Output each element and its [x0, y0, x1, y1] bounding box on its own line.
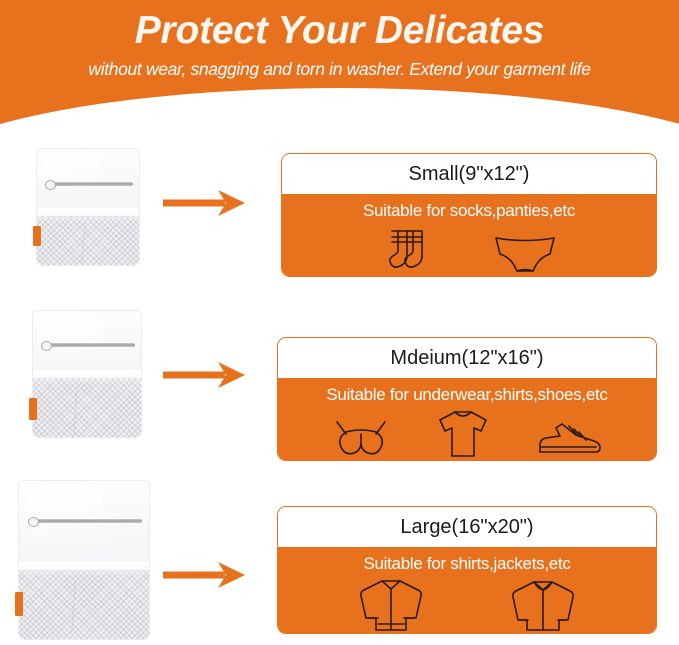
bag-zipper-pull: [45, 180, 56, 190]
bag-sheen: [37, 314, 102, 359]
bag-body: [36, 148, 140, 266]
laundry-bag-large: [18, 480, 150, 640]
bag-body: [18, 480, 150, 640]
bag-orange-tab: [29, 398, 37, 420]
bra-icon: [332, 414, 390, 460]
dress-shirt-icon: [506, 576, 580, 634]
panties-icon: [492, 231, 558, 275]
card-title-large: Large(16"x20"): [278, 507, 656, 547]
bag-zipper-pull: [41, 341, 52, 351]
bag-zipper: [43, 343, 135, 347]
card-subtitle-small: Suitable for socks,panties,etc: [282, 194, 656, 221]
bag-orange-tab: [33, 226, 41, 246]
icon-strip-small: [282, 227, 656, 275]
bag-zipper-pull: [28, 517, 39, 527]
bag-mesh-blend: [37, 208, 139, 222]
info-card-medium[interactable]: Mdeium(12"x16") Suitable for underwear,s…: [277, 337, 657, 461]
shoe-icon: [536, 416, 602, 460]
bag-sheen: [24, 484, 102, 541]
bag-mesh-panel: [33, 378, 141, 437]
info-card-large[interactable]: Large(16"x20") Suitable for shirts,jacke…: [277, 506, 657, 634]
arrow-right-icon: [163, 560, 247, 590]
bag-mesh-panel: [37, 216, 139, 265]
card-subtitle-medium: Suitable for underwear,shirts,shoes,etc: [278, 378, 656, 405]
bag-orange-tab: [15, 592, 23, 616]
bag-body: [32, 310, 142, 438]
bag-mesh-panel: [19, 570, 149, 639]
jacket-icon: [354, 576, 428, 634]
card-body-small: Suitable for socks,panties,etc: [282, 194, 656, 276]
product-row-large: Large(16"x20") Suitable for shirts,jacke…: [0, 470, 679, 645]
card-body-large: Suitable for shirts,jackets,etc: [278, 547, 656, 633]
arrow-right-icon: [163, 188, 247, 218]
icon-strip-large: [278, 576, 656, 634]
bag-mesh-blend: [33, 370, 141, 384]
tshirt-icon: [434, 408, 492, 460]
laundry-bag-medium: [32, 310, 142, 438]
icon-strip-medium: [278, 408, 656, 460]
socks-icon: [380, 227, 436, 275]
bag-mesh-blend: [19, 562, 149, 576]
banner-curve-divider: [0, 88, 679, 124]
product-row-small: Small(9"x12") Suitable for socks,panties…: [0, 140, 679, 290]
product-row-medium: Mdeium(12"x16") Suitable for underwear,s…: [0, 300, 679, 455]
arrow-right-icon: [163, 360, 247, 390]
card-subtitle-large: Suitable for shirts,jackets,etc: [278, 547, 656, 574]
bag-zipper: [47, 182, 133, 186]
page-subtitle: without wear, snagging and torn in washe…: [0, 57, 679, 81]
card-title-small: Small(9"x12"): [282, 154, 656, 194]
card-title-medium: Mdeium(12"x16"): [278, 338, 656, 378]
laundry-bag-small: [36, 148, 140, 266]
page-title: Protect Your Delicates: [0, 9, 679, 53]
info-card-small[interactable]: Small(9"x12") Suitable for socks,panties…: [281, 153, 657, 277]
bag-zipper: [31, 519, 142, 523]
header-banner: Protect Your Delicates without wear, sna…: [0, 0, 679, 124]
card-body-medium: Suitable for underwear,shirts,shoes,etc: [278, 378, 656, 460]
